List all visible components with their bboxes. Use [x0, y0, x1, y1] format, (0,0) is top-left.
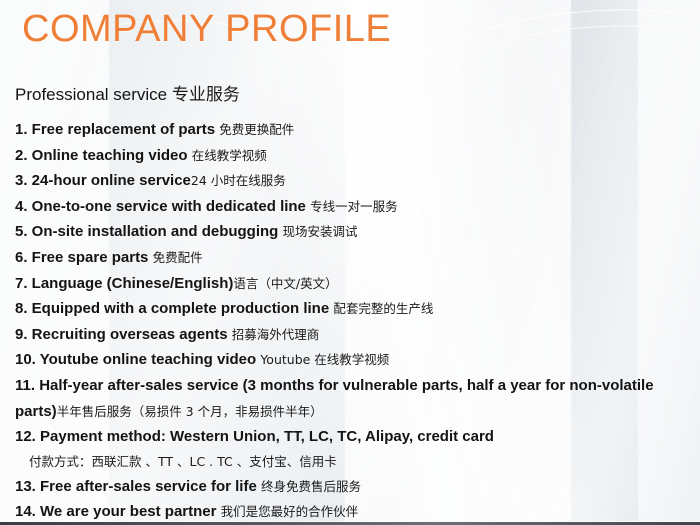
list-item: 4. One-to-one service with dedicated lin… — [15, 194, 687, 220]
section-heading: Professional service 专业服务 — [15, 84, 687, 106]
list-item-cn: 免费更换配件 — [219, 122, 294, 137]
list-item: 13. Free after-sales service for life 终身… — [15, 474, 687, 500]
list-item: 5. On-site installation and debugging 现场… — [15, 219, 687, 245]
list-item: 7. Language (Chinese/English)语言（中文/英文） — [15, 271, 687, 297]
list-item-en: 5. On-site installation and debugging — [15, 223, 283, 240]
list-item: 9. Recruiting overseas agents 招募海外代理商 — [15, 322, 687, 348]
list-item: 2. Online teaching video 在线教学视频 — [15, 143, 687, 169]
list-item-cn: 我们是您最好的合作伙伴 — [221, 504, 359, 519]
list-item-en: 2. Online teaching video — [15, 147, 192, 164]
list-item-cn: 免费配件 — [153, 250, 203, 265]
list-item: 10. Youtube online teaching video Youtub… — [15, 347, 687, 373]
list-item: 8. Equipped with a complete production l… — [15, 296, 687, 322]
list-item: 3. 24-hour online service24 小时在线服务 — [15, 168, 687, 194]
list-item-cn: 24 小时在线服务 — [191, 173, 286, 188]
list-item-en: 3. 24-hour online service — [15, 172, 191, 189]
list-item-cn: 在线教学视频 — [192, 148, 267, 163]
list-item-en: 13. Free after-sales service for life — [15, 478, 261, 495]
list-item-cn: 招募海外代理商 — [232, 327, 320, 342]
list-item: 1. Free replacement of parts 免费更换配件 — [15, 117, 687, 143]
list-item-cn: 配套完整的生产线 — [333, 301, 433, 316]
list-item-cn: 半年售后服务（易损件 3 个月，非易损件半年） — [57, 404, 323, 419]
list-item-en: 7. Language (Chinese/English) — [15, 275, 233, 292]
list-item: 6. Free spare parts 免费配件 — [15, 245, 687, 271]
service-list-block: Professional service 专业服务 1. Free replac… — [15, 84, 687, 525]
list-item-en: 1. Free replacement of parts — [15, 121, 219, 138]
list-item-en: 8. Equipped with a complete production l… — [15, 300, 333, 317]
list-item-en: 4. One-to-one service with dedicated lin… — [15, 198, 310, 215]
page-title: COMPANY PROFILE — [22, 8, 391, 51]
slide-content: COMPANY PROFILE Professional service 专业服… — [0, 0, 700, 525]
list-item-cn: 现场安装调试 — [283, 224, 358, 239]
list-item-cn: 付款方式：西联汇款 、TT 、LC . TC 、支付宝、信用卡 — [15, 450, 687, 474]
list-item-cn: 专线一对一服务 — [310, 199, 398, 214]
list-item-cn: Youtube 在线教学视频 — [260, 352, 389, 367]
list-item-en: 6. Free spare parts — [15, 249, 153, 266]
section-heading-en: Professional service — [15, 85, 172, 104]
list-item-cn: 语言（中文/英文） — [233, 276, 337, 291]
slide-canvas: COMPANY PROFILE Professional service 专业服… — [0, 0, 700, 525]
list-item-en: 12. Payment method: Western Union, TT, L… — [15, 428, 494, 445]
list-item-en: 14. We are your best partner — [15, 503, 221, 520]
list-item-cn: 终身免费售后服务 — [261, 479, 361, 494]
list-item-en: 9. Recruiting overseas agents — [15, 326, 232, 343]
list-item-en: 10. Youtube online teaching video — [15, 351, 260, 368]
section-heading-cn: 专业服务 — [172, 85, 240, 105]
list-item: 12. Payment method: Western Union, TT, L… — [15, 424, 687, 474]
list-item: 11. Half-year after-sales service (3 mon… — [15, 373, 687, 424]
